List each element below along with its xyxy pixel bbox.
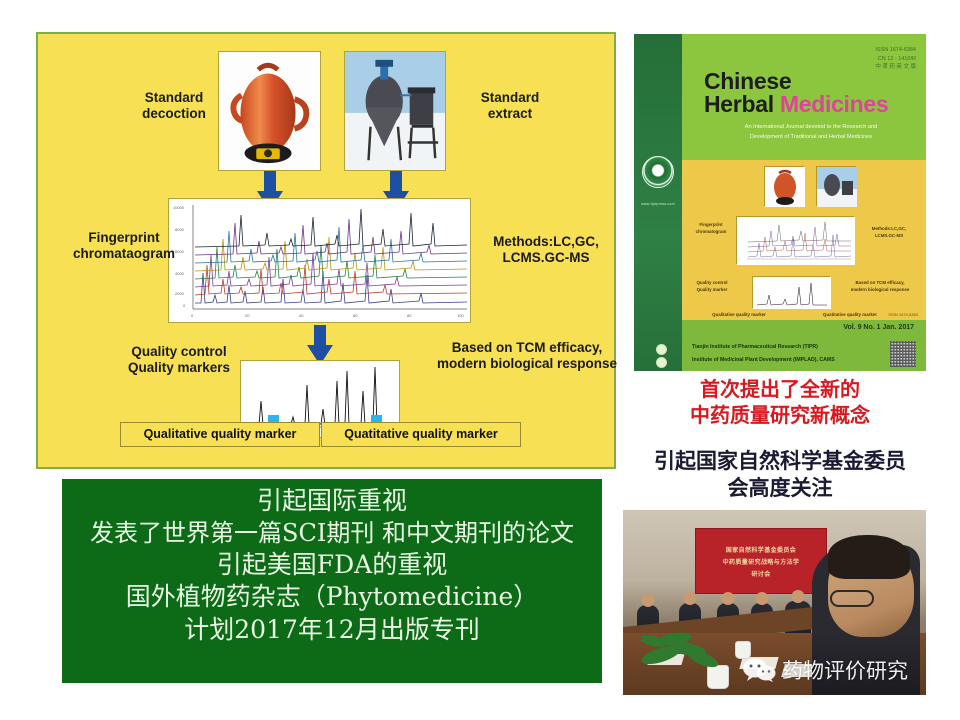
issn-line: 中 草 药 英 文 版 <box>875 63 916 72</box>
green-summary-box: 引起国际重视 发表了世界第一篇SCI期刊 和中文期刊的论文 引起美国FDA的重视… <box>62 479 602 683</box>
cover-spine: www.tiprpress.com <box>634 34 682 371</box>
cover-label-fingerprint: Fingerprintchromatogram <box>688 222 734 235</box>
svg-text:4000: 4000 <box>175 271 185 276</box>
green-box-line1: 引起国际重视 <box>62 485 602 518</box>
bullet-icon <box>656 344 667 355</box>
bullet-icon <box>656 357 667 368</box>
arrow-down-blue-center <box>307 325 333 365</box>
qr-code-icon <box>890 341 916 367</box>
banner-line3: 研讨会 <box>751 569 770 578</box>
journal-cover-image: www.tiprpress.com ISSN 1674-6384 CN 12 -… <box>634 34 926 371</box>
label-standard-decoction: Standard decoction <box>130 90 218 123</box>
label-tcm-efficacy: Based on TCM efficacy, modern biological… <box>434 340 620 373</box>
cover-label-quantitative: Quatitative quality marker <box>802 312 898 319</box>
conference-banner: 国家自然科学基金委员会 中药质量研究战略与方法学 研讨会 <box>695 528 827 594</box>
label-line: Quality control <box>131 344 226 359</box>
cover-extract-thumb <box>816 166 856 206</box>
cover-chromatogram-big <box>736 216 854 264</box>
cover-spine-url: www.tiprpress.com <box>638 202 678 206</box>
svg-text:10000: 10000 <box>173 205 185 210</box>
eyeglasses-icon <box>830 590 874 607</box>
black-caption: 引起国家自然科学基金委员 会高度关注 <box>630 447 930 502</box>
label-line: extract <box>488 106 532 121</box>
watermark: 药物评价研究 <box>742 655 908 685</box>
svg-text:60: 60 <box>353 313 358 318</box>
cover-chromatogram-small <box>752 276 830 308</box>
svg-text:20: 20 <box>245 313 250 318</box>
red-caption-line1: 首次提出了全新的 <box>634 376 926 402</box>
cover-diagram-band: Fingerprintchromatogram Methods:LC,GC,LC… <box>682 160 926 320</box>
label-line: Fingerprint <box>88 230 159 245</box>
cover-subtitle: An International Journal devoted to the … <box>706 122 916 142</box>
cover-bottom-band: Vol. 9 No. 1 Jan. 2017 Tianjin Institute… <box>682 320 926 371</box>
label-line: Standard <box>145 90 204 105</box>
standard-decoction-photo <box>218 51 321 171</box>
red-caption: 首次提出了全新的 中药质量研究新概念 <box>634 376 926 428</box>
svg-text:2000: 2000 <box>175 291 185 296</box>
cover-decoction-thumb <box>764 166 804 206</box>
issn-line: ISSN 1674-6384 <box>875 46 916 55</box>
wechat-icon <box>742 658 776 682</box>
extractor-illustration <box>345 52 445 170</box>
publisher-text: Institute of Medicinal Plant Development… <box>692 357 835 363</box>
cover-issn-footer: ISSN 1674-6384 <box>888 312 918 317</box>
teapot-illustration <box>219 52 320 170</box>
issn-line: CN 12 - 1410/R <box>875 55 916 64</box>
cover-title-herbal: Herbal <box>704 91 780 117</box>
cover-volume-info: Vol. 9 No. 1 Jan. 2017 <box>843 324 914 331</box>
svg-text:40: 40 <box>299 313 304 318</box>
chromatogram-svg: 100008000 60004000 20000 020 4060 80100 <box>169 199 471 323</box>
banner-line1: 国家自然科学基金委员会 <box>726 545 796 554</box>
tcm-workflow-diagram-panel: Standard decoction Standard extract 1000… <box>36 32 616 469</box>
label-line: Methods:LC,GC, <box>493 234 599 249</box>
cover-label-methods: Methods:LC,GC,LCMS.GC-MS <box>860 226 918 239</box>
cover-extractor-icon <box>817 167 857 207</box>
watermark-text: 药物评价研究 <box>782 655 908 685</box>
black-caption-line1: 引起国家自然科学基金委员 <box>630 447 930 474</box>
banner-line2: 中药质量研究战略与方法学 <box>723 557 800 566</box>
cover-chromatogram-small-svg <box>753 277 831 309</box>
green-box-line3: 引起美国FDA的重视 <box>62 549 602 582</box>
quantitative-quality-marker-box: Quatitative quality marker <box>321 422 521 447</box>
label-line: Based on TCM efficacy, <box>452 340 603 355</box>
publisher-text: Tianjin Institute of Pharmaceutical Rese… <box>692 344 818 350</box>
label-quality-control: Quality control Quality markers <box>116 344 242 377</box>
publisher-logo-icon <box>642 156 674 188</box>
cover-label-tcm: Based on TCM efficacy,modern biological … <box>842 280 918 293</box>
svg-text:80: 80 <box>407 313 412 318</box>
fingerprint-chromatogram-chart: 100008000 60004000 20000 020 4060 80100 <box>168 198 471 323</box>
cover-title-line2: Herbal Medicines <box>704 91 888 118</box>
cover-publisher-line2: Institute of Medicinal Plant Development… <box>692 357 835 363</box>
label-line: chromataogram <box>73 246 175 261</box>
potted-plant <box>641 625 725 673</box>
cover-issn-block: ISSN 1674-6384 CN 12 - 1410/R 中 草 药 英 文 … <box>875 46 916 72</box>
label-fingerprint-chromatogram: Fingerprint chromataogram <box>60 230 188 263</box>
label-line: LCMS.GC-MS <box>503 250 590 265</box>
red-caption-line2: 中药质量研究新概念 <box>634 402 926 428</box>
green-box-line5: 计划2017年12月出版专刊 <box>62 614 602 647</box>
svg-text:100: 100 <box>457 313 464 318</box>
green-box-line2: 发表了世界第一篇SCI期刊 和中文期刊的论文 <box>62 518 602 549</box>
cover-top-band: ISSN 1674-6384 CN 12 - 1410/R 中 草 药 英 文 … <box>682 34 926 160</box>
qualitative-quality-marker-box: Qualitative quality marker <box>120 422 320 447</box>
cover-publisher-line1: Tianjin Institute of Pharmaceutical Rese… <box>692 344 818 350</box>
label-line: Quality markers <box>128 360 230 375</box>
label-line: Standard <box>481 90 540 105</box>
label-methods: Methods:LC,GC, LCMS.GC-MS <box>478 234 614 267</box>
cover-label-qualitative: Qualitative quality marker <box>694 312 784 319</box>
green-box-line4: 国外植物药杂志（Phytomedicine） <box>62 581 602 614</box>
cover-label-quality: Quality controlQuality marker <box>688 280 736 293</box>
subtitle-line: An International Journal devoted to the … <box>706 122 916 132</box>
cover-teapot-icon <box>765 167 805 207</box>
cover-chromatogram-svg <box>737 217 855 265</box>
label-line: modern biological response <box>437 356 617 371</box>
black-caption-line2: 会高度关注 <box>630 474 930 501</box>
standard-extract-photo <box>344 51 446 171</box>
foreground-attendee-hair <box>828 535 910 579</box>
cover-title-medicines: Medicines <box>780 91 889 117</box>
label-standard-extract: Standard extract <box>466 90 554 123</box>
label-line: decoction <box>142 106 206 121</box>
subtitle-line: Development of Traditional and Herbal Me… <box>706 132 916 142</box>
